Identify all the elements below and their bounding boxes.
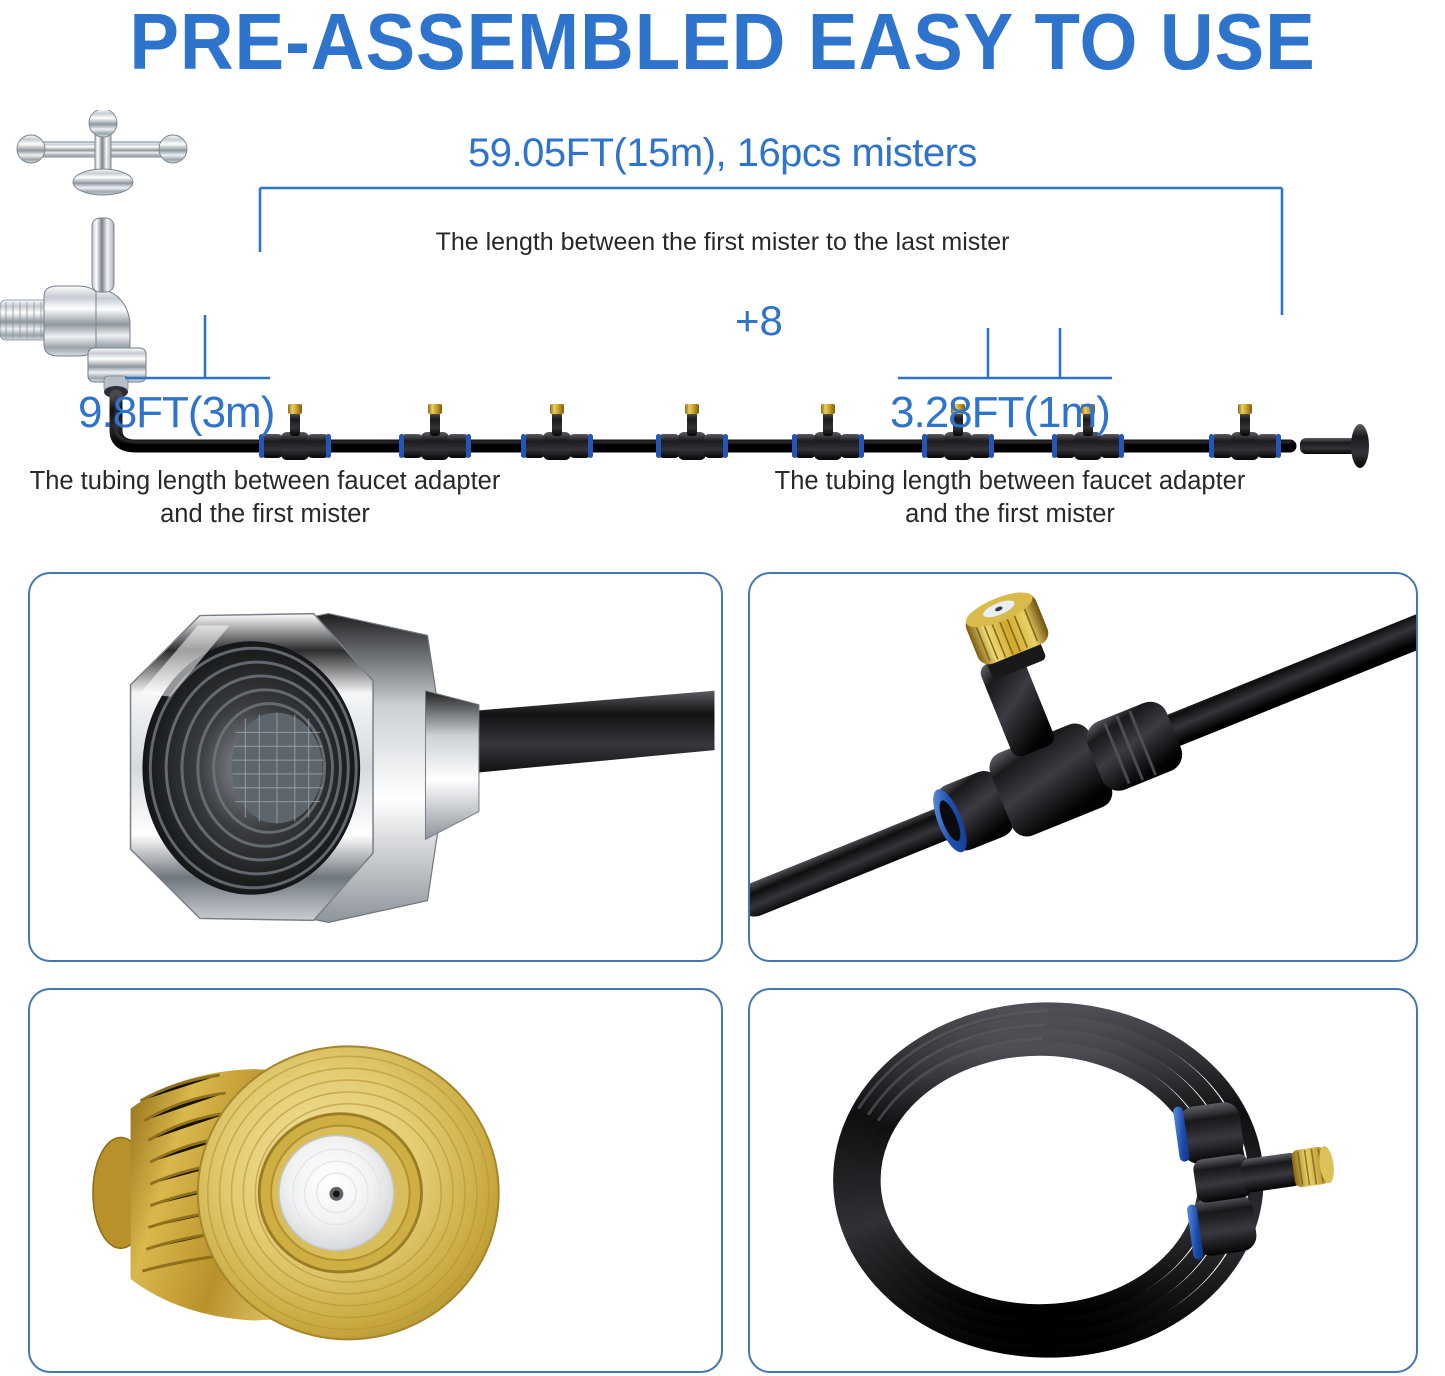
brass-nozzle-image <box>30 990 721 1371</box>
mister-nozzle <box>792 404 864 460</box>
faucet-adapter-photo <box>28 572 723 962</box>
end-plug <box>1300 424 1369 468</box>
brass-nozzle-photo <box>28 988 723 1373</box>
mister-nozzle <box>521 404 593 460</box>
right-dimension-line <box>898 328 1112 378</box>
left-caption: The tubing length between faucet adapter… <box>5 465 525 531</box>
tee-connector-image <box>750 574 1416 960</box>
faucet-adapter-image <box>30 574 721 960</box>
tee-connector-photo <box>748 572 1418 962</box>
total-length-label: 59.05FT(15m), 16pcs misters <box>0 131 1445 176</box>
left-dimension-line <box>125 315 270 378</box>
mister-nozzle <box>656 404 728 460</box>
extra-misters-label: +8 <box>735 297 783 345</box>
left-dimension-label: 9.8FT(3m) <box>78 388 274 438</box>
coiled-tubing-image <box>750 990 1416 1371</box>
misting-system-diagram: 59.05FT(15m), 16pcs misters The length b… <box>0 110 1445 550</box>
right-caption: The tubing length between faucet adapter… <box>750 465 1270 531</box>
page-title: PRE-ASSEMBLED EASY TO USE <box>51 0 1395 88</box>
coiled-tubing-photo <box>748 988 1418 1373</box>
mister-nozzle <box>1209 404 1281 460</box>
bracket-caption: The length between the first mister to t… <box>0 228 1445 257</box>
mister-nozzle <box>399 404 471 460</box>
right-dimension-label: 3.28FT(1m) <box>890 388 1110 438</box>
